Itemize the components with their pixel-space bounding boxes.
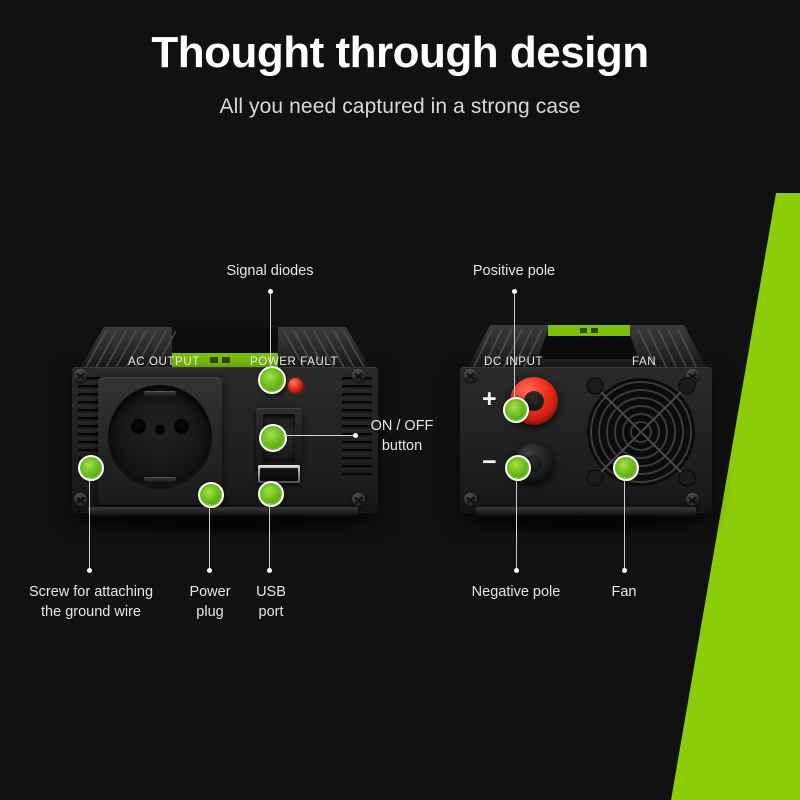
callout-negative-pole: Negative pole [451,583,581,603]
fan-grille [582,373,700,491]
device-base-foot [88,507,358,516]
leader-dot-ground-screw [87,568,92,573]
ac-socket-well [108,385,212,489]
leader-line-power-plug [209,504,210,570]
marker-fan[interactable] [613,455,639,481]
leader-line-usb-port [269,503,270,570]
earth-clip-bottom [144,477,176,482]
marker-signal-diodes[interactable] [258,366,286,394]
panel-screw [464,369,477,382]
callout-usb-port: USB port [245,583,297,622]
leader-line-fan [624,477,625,570]
callout-fan: Fan [594,583,654,603]
label-power-fault: POWER FAULT [250,356,338,368]
leader-dot-usb-port [267,568,272,573]
inverter-front-view: AC OUTPUT POWER FAULT USB [60,315,390,530]
ac-socket-pin-hole [131,419,146,434]
plus-sign: + [482,387,497,412]
ac-socket-center [155,425,165,435]
marker-usb-port[interactable] [258,481,284,507]
panel-screw [686,493,699,506]
page-title: Thought through design [0,30,800,76]
leader-dot-negative-pole [514,568,519,573]
leader-dot-power-plug [207,568,212,573]
leader-line-on-off [283,435,355,436]
leader-dot-fan [622,568,627,573]
leader-line-positive-pole [514,293,515,400]
leader-line-negative-pole [516,477,517,570]
fault-led-red [288,378,303,393]
device-base-foot [476,507,696,516]
infographic-canvas: Thought through design All you need capt… [0,0,800,800]
leader-dot-on-off [353,433,358,438]
inverter-rear-view: DC INPUT FAN + − [452,315,722,530]
panel-screw [352,493,365,506]
callout-power-plug: Power plug [175,583,245,622]
panel-screw [352,369,365,382]
callout-signal-diodes: Signal diodes [180,262,360,282]
panel-screw [74,369,87,382]
leader-line-ground-screw [89,477,90,570]
panel-screw [74,493,87,506]
leader-line-signal-diodes [270,293,271,368]
minus-sign: − [482,450,497,475]
label-fan: FAN [632,356,656,368]
marker-negative-pole[interactable] [505,455,531,481]
usb-port[interactable] [258,465,300,483]
marker-positive-pole[interactable] [503,397,529,423]
callout-ground-screw: Screw for attaching the ground wire [8,583,174,622]
marker-on-off-button[interactable] [259,424,287,452]
callout-positive-pole: Positive pole [424,262,604,282]
ac-socket-pin-hole [174,419,189,434]
callout-on-off-button: ON / OFF button [362,417,442,456]
label-ac-output: AC OUTPUT [128,356,200,368]
marker-power-plug[interactable] [198,482,224,508]
earth-clip-top [144,391,176,396]
panel-screw [464,493,477,506]
marker-ground-screw[interactable] [78,455,104,481]
page-subtitle: All you need captured in a strong case [0,95,800,119]
